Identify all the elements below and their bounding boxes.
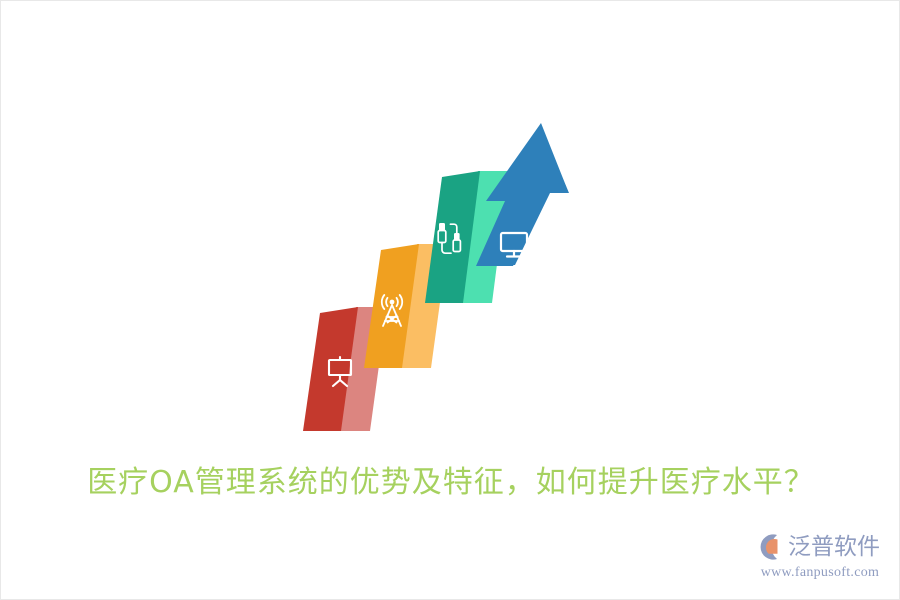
fanpu-circle-logo-icon: [755, 532, 785, 562]
logo-top-row: 泛普软件: [755, 529, 885, 565]
page-title: 医疗OA管理系统的优势及特征，如何提升医疗水平？: [1, 463, 900, 503]
logo-wordmark: 泛普软件: [788, 532, 880, 562]
logo-website-url: www.fanpusoft.com: [755, 564, 885, 582]
ascending-arrow-infographic: [301, 111, 601, 451]
brand-logo[interactable]: 泛普软件 www.fanpusoft.com: [755, 529, 885, 587]
promo-banner: 医疗OA管理系统的优势及特征，如何提升医疗水平？ 泛普软件 www.fanpus…: [0, 0, 900, 600]
